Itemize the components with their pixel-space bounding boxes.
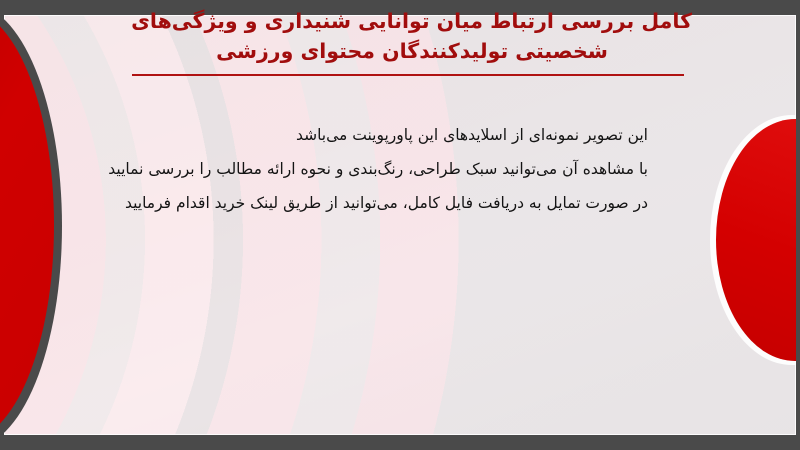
red-circle-right-icon — [716, 119, 796, 361]
slide-body-line-1: این تصویر نمونه‌ای از اسلایدهای این پاور… — [128, 118, 648, 152]
slide-body-text: این تصویر نمونه‌ای از اسلایدهای این پاور… — [128, 118, 648, 220]
slide-content-panel — [4, 15, 796, 435]
slide-frame-right-edge — [796, 0, 800, 450]
slide-frame-bottom-bar — [0, 434, 800, 450]
presentation-slide: کامل بررسی ارتباط میان توانایی شنیداری و… — [0, 0, 800, 450]
title-underline-rule — [132, 74, 684, 76]
slide-title-line-1: کامل بررسی ارتباط میان توانایی شنیداری و… — [132, 6, 692, 36]
slide-body-line-2: با مشاهده آن می‌توانید سبک طراحی، رنگ‌بن… — [128, 152, 648, 186]
slide-title: کامل بررسی ارتباط میان توانایی شنیداری و… — [132, 6, 692, 66]
slide-body-line-3: در صورت تمایل به دریافت فایل کامل، می‌تو… — [128, 186, 648, 220]
slide-title-line-2: شخصیتی تولیدکنندگان محتوای ورزشی — [132, 36, 692, 66]
panel-inner-border — [4, 15, 796, 435]
